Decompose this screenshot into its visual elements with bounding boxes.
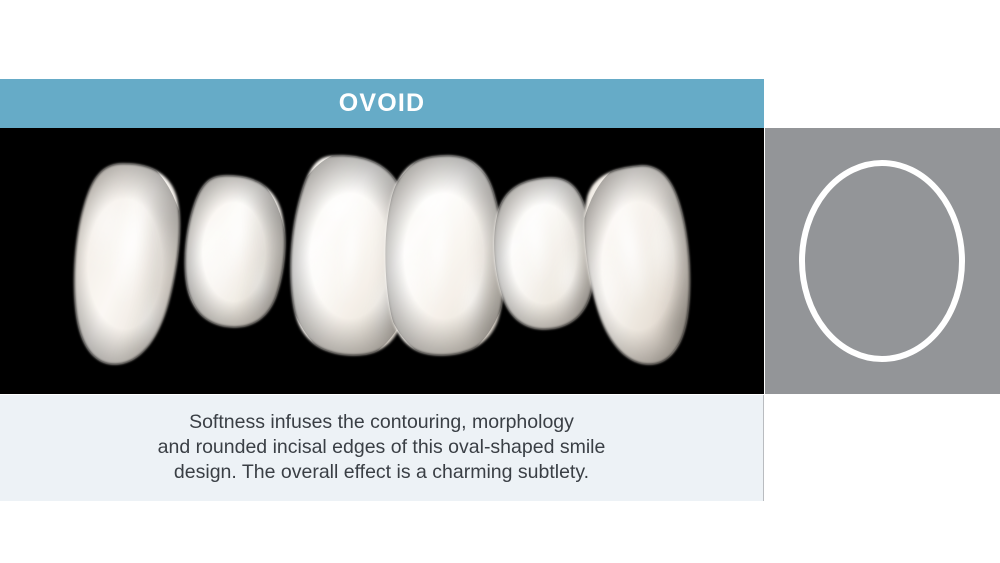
page-title: OVOID: [339, 91, 426, 116]
teeth-illustration: [0, 128, 764, 394]
smile-design-card: OVOID: [0, 0, 1000, 563]
ovoid-shape: [802, 163, 962, 359]
caption-text: Softness infuses the contouring, morphol…: [158, 410, 606, 487]
title-banner: OVOID: [0, 79, 764, 128]
caption-panel: Softness infuses the contouring, morphol…: [0, 395, 764, 501]
shape-diagram-panel: [765, 128, 1000, 394]
teeth-photo-panel: [0, 128, 764, 394]
ovoid-outline-icon: [765, 128, 1000, 394]
